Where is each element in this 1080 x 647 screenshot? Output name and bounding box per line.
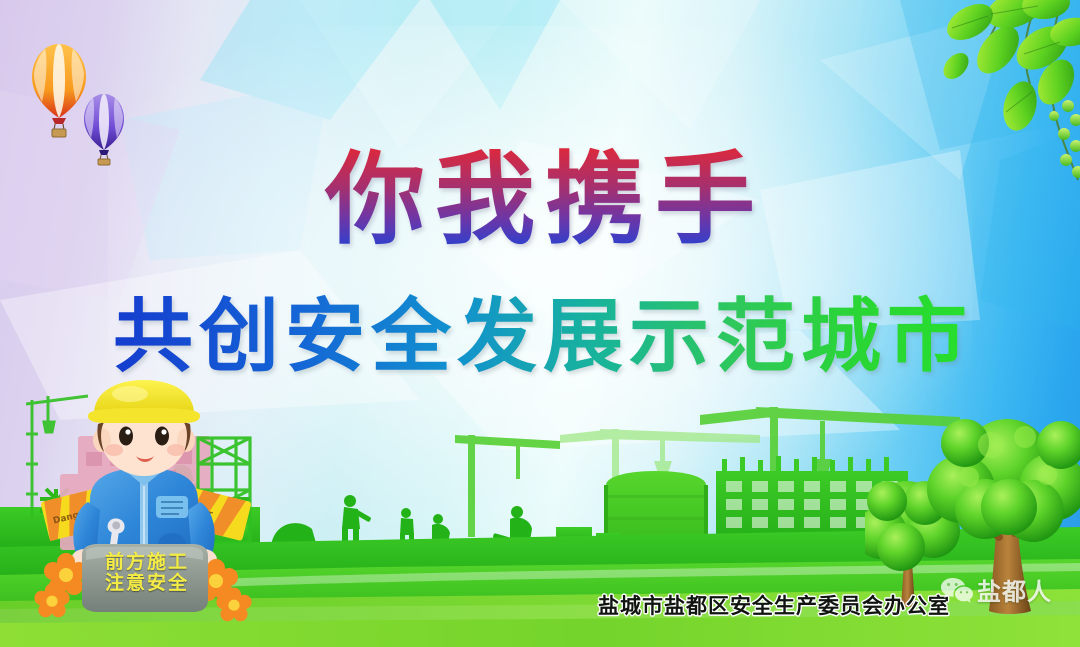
organization-name: 盐城市盐都区安全生产委员会办公室 xyxy=(598,590,950,620)
sub-title: 共创安全发展示范城市 xyxy=(0,272,1080,388)
safety-banner: 你我携手 共创安全发展示范城市 xyxy=(0,0,1080,647)
construction-worker-mascot: Danger Danger xyxy=(26,378,262,623)
main-title: 你我携手 xyxy=(0,118,1080,263)
